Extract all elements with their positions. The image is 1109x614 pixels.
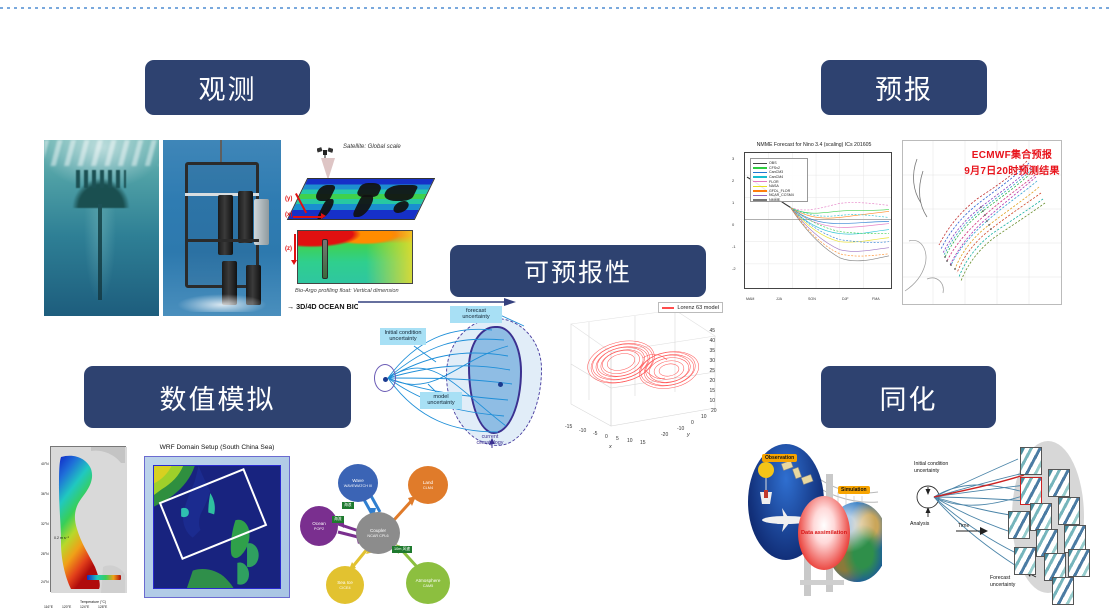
niskin-bottle bbox=[254, 199, 269, 245]
nmme-xtick: DJF bbox=[842, 297, 849, 301]
label-predictability-text: 可预报性 bbox=[524, 253, 632, 289]
ensemble-member-thumb-highlighted bbox=[1020, 477, 1042, 505]
satellite-beam bbox=[321, 158, 335, 180]
nmme-legend-label: CanCM3 bbox=[769, 170, 783, 174]
crane-cable bbox=[220, 140, 222, 164]
ctd-rosette-photo bbox=[163, 140, 281, 316]
ensemble-uncertainty-diagram: Initial condition uncertainty forecast u… bbox=[358, 300, 570, 458]
nmme-legend-label: GFDL_FLOR bbox=[769, 189, 790, 193]
lorenz-ytick: 10 bbox=[701, 414, 707, 420]
data-assimilation-node: Data assimilation bbox=[798, 496, 850, 570]
underwater-mooring-photo bbox=[44, 140, 159, 316]
lorenz-yaxis-label: y bbox=[687, 432, 690, 438]
forecast-mean-dot bbox=[498, 382, 503, 387]
node-sublabel-ocean: POP2 bbox=[314, 527, 324, 532]
nmme-ytick: 1 bbox=[732, 200, 734, 205]
enkf-ensemble-forecast-diagram: Initial condition uncertainty Analysis T… bbox=[900, 425, 1100, 610]
node-sublabel-land: CLM4 bbox=[423, 486, 433, 491]
colorbar-label: Temperature (°C) bbox=[80, 600, 106, 604]
nmme-legend-item: NMME bbox=[753, 198, 805, 203]
ensemble-member-thumb bbox=[1020, 447, 1042, 475]
enkf-label-analysis: Analysis bbox=[910, 521, 929, 528]
nmme-nino34-forecast-plot: NMME Forecast for Nino 3.4 (scaling) ICs… bbox=[730, 140, 898, 305]
coupler-tag-wind: 10m 风速 bbox=[392, 546, 412, 553]
tag-forecast-uncertainty: forecast uncertainty bbox=[450, 306, 502, 323]
nmme-ytick: 3 bbox=[732, 156, 734, 161]
landmass bbox=[381, 185, 419, 201]
ocean-biogeochemistry-diagram: Satellite: Global scale (y) (x) (z) Bio-… bbox=[285, 138, 435, 316]
lorenz-legend: Lorenz 63 model bbox=[658, 302, 723, 313]
ensemble-member-thumb bbox=[1048, 469, 1070, 497]
axis-x-arrow bbox=[293, 216, 323, 218]
lorenz-ytick: 20 bbox=[711, 408, 717, 414]
ensemble-member-thumb bbox=[1030, 503, 1052, 531]
lorenz-ztick: 20 bbox=[709, 378, 715, 384]
top-dotted-rule bbox=[0, 7, 1109, 9]
rosette-frame bbox=[185, 162, 259, 288]
ocean-temperature-field bbox=[51, 447, 127, 593]
flow-arrow-observation-to-predictability bbox=[358, 296, 516, 308]
nmme-ytick: 2 bbox=[732, 178, 734, 183]
lorenz-xtick: -10 bbox=[579, 428, 586, 434]
lorenz-ztick: 35 bbox=[709, 348, 715, 354]
lorenz-legend-swatch bbox=[662, 307, 674, 309]
nmme-legend-label: NMME bbox=[769, 198, 780, 202]
niskin-bottle bbox=[238, 191, 253, 243]
initial-condition-ellipse bbox=[374, 364, 396, 392]
label-predictability[interactable]: 可预报性 bbox=[450, 245, 706, 297]
nmme-legend-label: OBS bbox=[769, 161, 777, 165]
label-assimilation[interactable]: 同化 bbox=[821, 366, 996, 428]
nmme-legend-label: NCAR_CCSM4 bbox=[769, 193, 794, 197]
axis-x-label: (x) bbox=[285, 212, 292, 218]
nmme-legend-label: CanCM4 bbox=[769, 175, 783, 179]
bio-argo-float-icon bbox=[322, 239, 328, 279]
wrf-domain-setup-map: WRF Domain Setup (South China Sea) bbox=[136, 440, 298, 610]
node-sublabel-atmosphere: CAM5 bbox=[423, 584, 434, 589]
coupler-node-atmosphere: Atmosphere CAM5 bbox=[406, 562, 450, 604]
nmme-xtick: SON bbox=[808, 297, 816, 301]
label-observation-text: 观测 bbox=[199, 68, 257, 107]
vertical-section-plot bbox=[297, 230, 413, 284]
lorenz-attractor-plot: Lorenz 63 model bbox=[565, 300, 725, 450]
enkf-label-forecast-uncertainty: Forecast uncertainty bbox=[990, 575, 1034, 588]
track-headline-ecmwf: ECMWF集合预报 bbox=[964, 146, 1060, 161]
coupler-tag-wave: 海浪 bbox=[342, 502, 354, 509]
tag-initial-condition-uncertainty: Initial condition uncertainty bbox=[380, 328, 426, 345]
lorenz-ztick: 40 bbox=[709, 338, 715, 344]
nmme-xtick: FMA bbox=[872, 297, 880, 301]
ensemble-member-thumb bbox=[1008, 511, 1030, 539]
nmme-xtick: JJA bbox=[776, 297, 782, 301]
wrf-title: WRF Domain Setup (South China Sea) bbox=[136, 444, 298, 451]
nmme-legend-label: CFSv2 bbox=[769, 166, 780, 170]
axis-x-arrowhead bbox=[321, 213, 326, 219]
coupler-node-seaice: Sea Ice CICE4 bbox=[326, 566, 364, 604]
lon-tick: 124°E bbox=[80, 605, 89, 609]
lorenz-xtick: 5 bbox=[616, 436, 619, 442]
lorenz-xtick: -5 bbox=[593, 431, 597, 437]
label-observation[interactable]: 观测 bbox=[145, 60, 310, 115]
lorenz-xtick: 0 bbox=[605, 434, 608, 440]
tag-current-climatology: current climatology bbox=[468, 432, 512, 448]
label-numerical-simulation-text: 数值模拟 bbox=[160, 378, 276, 417]
node-sublabel-wave: WAVEWATCH III bbox=[344, 484, 372, 489]
lorenz-3d-axes bbox=[565, 300, 725, 450]
tag-model-uncertainty: model uncertainty bbox=[420, 392, 462, 409]
lat-tick: 24°N bbox=[41, 580, 49, 584]
niskin-bottle bbox=[218, 195, 233, 255]
lorenz-ztick: 45 bbox=[709, 328, 715, 334]
lon-tick: 120°E bbox=[62, 605, 71, 609]
ensemble-member-thumb bbox=[1058, 497, 1080, 525]
node-sublabel-seaice: CICE4 bbox=[339, 586, 350, 591]
lorenz-ztick: 10 bbox=[709, 398, 715, 404]
enkf-label-time: Time bbox=[958, 523, 969, 530]
lorenz-ytick: -20 bbox=[661, 432, 668, 438]
lorenz-xtick: 10 bbox=[627, 438, 633, 444]
ensemble-member-thumb bbox=[1068, 549, 1090, 577]
axis-z-arrowhead bbox=[291, 260, 297, 265]
coupler-node-wave: Wave WAVEWATCH III bbox=[338, 464, 378, 502]
lon-tick: 128°E bbox=[98, 605, 107, 609]
coupler-tag-current: 海流 bbox=[332, 516, 344, 523]
lat-tick: 32°N bbox=[41, 522, 49, 526]
lat-tick: 36°N bbox=[41, 492, 49, 496]
ensemble-member-thumb bbox=[1052, 577, 1074, 605]
badge-simulation: Simulation bbox=[838, 486, 870, 494]
axis-y-label: (y) bbox=[285, 196, 292, 202]
bio-argo-caption: Bio-Argo profiling float: Vertical dimen… bbox=[295, 288, 399, 294]
lat-tick: 40°N bbox=[41, 462, 49, 466]
axis-z-label: (z) bbox=[285, 246, 292, 252]
data-assimilation-bridge-diagram: Observation Simulation Data assimilation bbox=[742, 430, 882, 610]
nmme-legend: OBS CFSv2 CanCM3 CanCM4 FLOR NASA GFDL_F… bbox=[750, 158, 808, 202]
label-numerical-simulation[interactable]: 数值模拟 bbox=[84, 366, 351, 428]
wrf-outer-domain bbox=[144, 456, 290, 598]
lat-tick: 28°N bbox=[41, 552, 49, 556]
lon-tick: 116°E bbox=[44, 605, 53, 609]
label-forecast[interactable]: 预报 bbox=[821, 60, 987, 115]
label-assimilation-text: 同化 bbox=[880, 378, 938, 417]
enkf-label-initial-condition-uncertainty: Initial condition uncertainty bbox=[914, 461, 966, 474]
coupled-model-diagram: Coupler NCAR CPL6 Wave WAVEWATCH III Lan… bbox=[300, 450, 460, 610]
ensemble-member-thumb bbox=[1014, 547, 1036, 575]
nmme-plot-title: NMME Forecast for Nino 3.4 (scaling) ICs… bbox=[730, 142, 898, 148]
nmme-ytick: -2 bbox=[732, 266, 736, 271]
nmme-legend-label: FLOR bbox=[769, 180, 779, 184]
badge-observation: Observation bbox=[762, 454, 797, 462]
lorenz-ytick: 0 bbox=[691, 420, 694, 426]
sea-foam bbox=[177, 294, 267, 312]
lorenz-xtick: 15 bbox=[640, 440, 646, 446]
nmme-xtick: MAM bbox=[746, 297, 754, 301]
ocean-temperature-current-map: 0.2 m s⁻¹ Temperature (°C) 40°N 36°N 32°… bbox=[40, 440, 132, 610]
lorenz-ytick: -10 bbox=[677, 426, 684, 432]
landmass bbox=[391, 201, 411, 213]
label-forecast-text: 预报 bbox=[875, 68, 933, 107]
satellite-caption: Satellite: Global scale bbox=[343, 144, 401, 150]
track-headline-datetime: 9月7日20时预测结果 bbox=[964, 162, 1060, 177]
axis-z-arrow bbox=[294, 234, 296, 262]
nmme-ytick: -1 bbox=[732, 244, 736, 249]
typhoon-ensemble-track-map: ECMWF集合预报 9月7日20时预测结果 bbox=[902, 140, 1062, 305]
landmass bbox=[351, 195, 376, 217]
lorenz-xtick: -15 bbox=[565, 424, 572, 430]
lorenz-legend-label: Lorenz 63 model bbox=[677, 305, 719, 311]
coupler-node-ocean: Ocean POP2 bbox=[300, 506, 338, 546]
lorenz-ztick: 30 bbox=[709, 358, 715, 364]
mooring-line bbox=[98, 204, 102, 300]
global-chlorophyll-map bbox=[287, 178, 435, 220]
lorenz-ztick: 25 bbox=[709, 368, 715, 374]
velocity-scale-label: 0.2 m s⁻¹ bbox=[54, 536, 69, 540]
coupler-center-sublabel: NCAR CPL6 bbox=[367, 534, 388, 539]
water-surface-light bbox=[44, 140, 159, 166]
nmme-legend-label: NASA bbox=[769, 184, 779, 188]
lorenz-ztick: 15 bbox=[709, 388, 715, 394]
coupler-node-land: Land CLM4 bbox=[408, 466, 448, 504]
slide-canvas: 观测 预报 可预报性 数值模拟 同化 bbox=[0, 0, 1109, 614]
lorenz-xaxis-label: x bbox=[609, 444, 612, 450]
ocean-map-panel bbox=[50, 446, 126, 592]
nmme-ytick: 0 bbox=[732, 222, 734, 227]
